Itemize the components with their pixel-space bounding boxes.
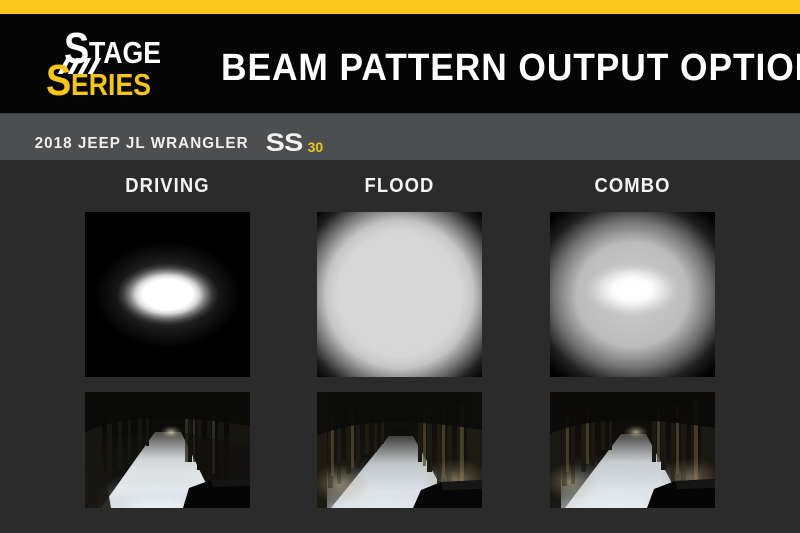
column-label-driving: DRIVING <box>92 175 244 198</box>
driving-night-road-photo <box>85 392 250 508</box>
driving-road-scene <box>85 392 250 508</box>
top-accent-bar <box>0 0 800 14</box>
logo-series-initial: S <box>46 56 70 106</box>
driving-beam-glow <box>85 212 250 377</box>
driving-beam-pattern <box>85 212 250 377</box>
bottom-spacer <box>0 508 800 533</box>
subtitle-row: 2018 JEEP JL WRANGLER SS 30 <box>29 126 323 155</box>
column-label-combo: COMBO <box>557 175 709 198</box>
column-label-flood: FLOOD <box>324 175 476 198</box>
combo-beam-pattern <box>550 212 715 377</box>
flood-beam-glow <box>317 212 482 377</box>
combo-road-scene <box>550 392 715 508</box>
logo-series-word: SERIES <box>46 56 164 106</box>
page-title: BEAM PATTERN OUTPUT OPTIONS <box>221 48 800 88</box>
flood-night-road-photo <box>317 392 482 508</box>
model-number: 30 <box>308 139 324 155</box>
flood-road-scene <box>317 392 482 508</box>
model-prefix: SS <box>266 129 303 158</box>
stage-series-logo: STAGE SERIES <box>38 20 188 100</box>
logo-series-rest: ERIES <box>71 67 151 103</box>
combo-night-road-photo <box>550 392 715 508</box>
flood-beam-pattern <box>317 212 482 377</box>
combo-beam-glow <box>550 212 715 377</box>
vehicle-name: 2018 JEEP JL WRANGLER <box>35 135 249 153</box>
